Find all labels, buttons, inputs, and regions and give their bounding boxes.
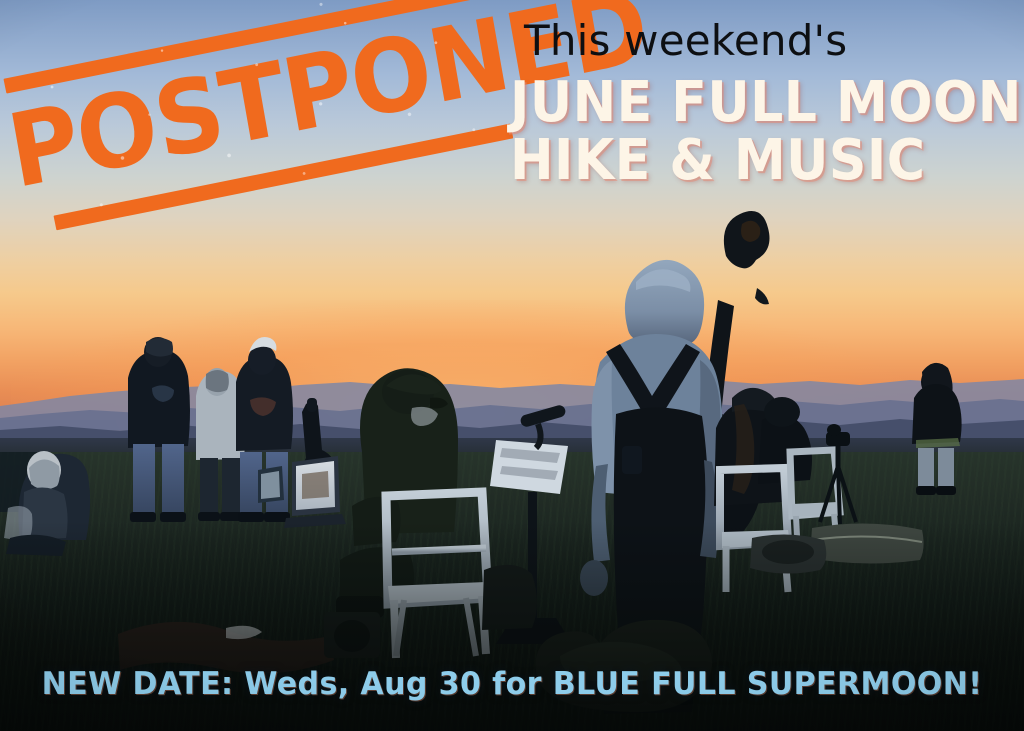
title-line-2: HIKE & MUSIC	[510, 132, 975, 190]
kicker-text: This weekend's	[524, 16, 847, 66]
tablet-screen-right-of-group	[258, 466, 284, 503]
speaker-foreground	[750, 534, 826, 573]
event-poster: POSTPONED This weekend's JUNE FULL MOON …	[0, 0, 1024, 731]
instrument-case-hard	[810, 523, 924, 563]
camera-tripod	[820, 424, 856, 524]
laptop-screen	[284, 456, 346, 528]
page-title: JUNE FULL MOON HIKE & MUSIC	[510, 74, 975, 190]
title-line-1: JUNE FULL MOON	[510, 74, 975, 132]
seated-person-left	[0, 451, 90, 556]
amp-box-foreground	[324, 612, 380, 658]
microphone	[519, 404, 567, 448]
seated-musicians-right	[714, 388, 812, 506]
new-date-banner: NEW DATE: Weds, Aug 30 for BLUE FULL SUP…	[15, 664, 1008, 704]
backpack-foreground	[482, 565, 537, 630]
standing-woman-right	[912, 363, 962, 495]
